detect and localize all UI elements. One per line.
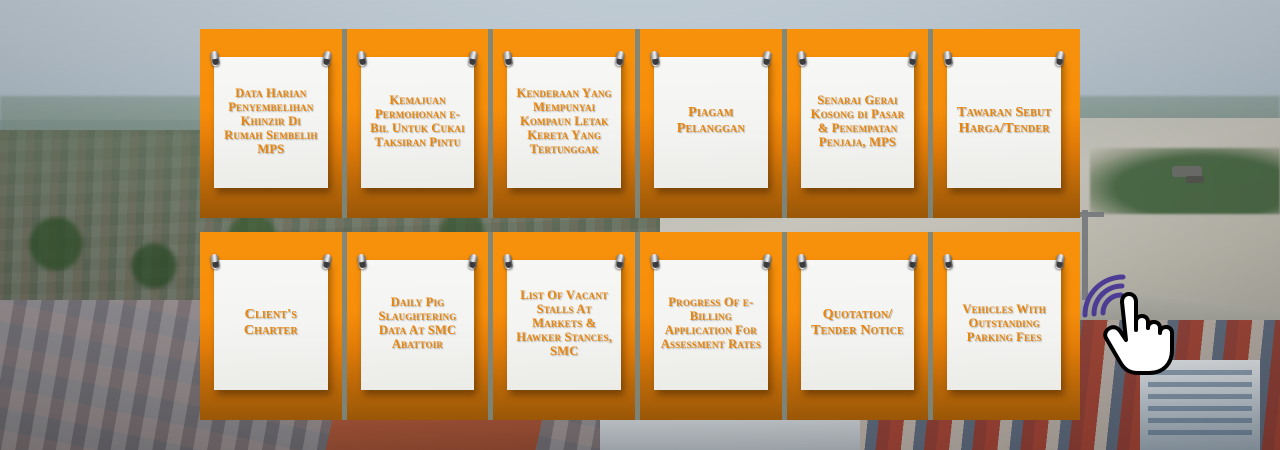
paper-clip-icon	[943, 253, 953, 269]
card-title: Progress Of e-Billing Application For As…	[658, 295, 764, 351]
service-card-tawaran-sebut-harga-tender[interactable]: Tawaran Sebut Harga/Tender	[933, 29, 1080, 218]
card-title: Senarai Gerai Kosong di Pasar & Penempat…	[805, 93, 911, 149]
card-title: Piagam Pelanggan	[658, 105, 764, 136]
service-card-clients-charter[interactable]: Client's Charter	[200, 232, 347, 420]
card-title: Daily Pig Slaughtering Data At SMC Abatt…	[365, 295, 471, 351]
card-title: Tawaran Sebut Harga/Tender	[951, 105, 1057, 136]
service-card-kemajuan-permohonan-ebil[interactable]: Kemajuan Permohonan e-Bil Untuk Cukai Ta…	[347, 29, 494, 218]
card-title: Quotation/ Tender Notice	[805, 307, 911, 338]
card-sheet[interactable]: List Of Vacant Stalls At Markets & Hawke…	[507, 260, 621, 390]
card-sheet[interactable]: Kenderaan Yang Mempunyai Kompaun Letak K…	[507, 57, 621, 188]
paper-clip-icon	[615, 50, 625, 66]
service-card-kenderaan-kompaun-letak-kereta[interactable]: Kenderaan Yang Mempunyai Kompaun Letak K…	[493, 29, 640, 218]
paper-clip-icon	[908, 253, 918, 269]
paper-clip-icon	[503, 50, 513, 66]
paper-clip-icon	[615, 253, 625, 269]
paper-clip-icon	[650, 50, 660, 66]
card-title: Client's Charter	[218, 307, 324, 338]
service-card-list-of-vacant-stalls[interactable]: List Of Vacant Stalls At Markets & Hawke…	[493, 232, 640, 420]
service-card-progress-of-ebilling[interactable]: Progress Of e-Billing Application For As…	[640, 232, 787, 420]
paper-clip-icon	[210, 50, 220, 66]
paper-clip-icon	[503, 253, 513, 269]
paper-clip-icon	[1055, 253, 1065, 269]
paper-clip-icon	[797, 50, 807, 66]
card-sheet[interactable]: Tawaran Sebut Harga/Tender	[947, 57, 1061, 188]
card-sheet[interactable]: Progress Of e-Billing Application For As…	[654, 260, 768, 390]
card-sheet[interactable]: Piagam Pelanggan	[654, 57, 768, 188]
service-card-quotation-tender-notice[interactable]: Quotation/ Tender Notice	[787, 232, 934, 420]
paper-clip-icon	[762, 253, 772, 269]
paper-clip-icon	[322, 253, 332, 269]
paper-clip-icon	[357, 50, 367, 66]
card-title: Kemajuan Permohonan e-Bil Untuk Cukai Ta…	[365, 93, 471, 149]
page-root: Data Harian Penyembelihan Khinzir Di Rum…	[0, 0, 1280, 450]
card-sheet[interactable]: Daily Pig Slaughtering Data At SMC Abatt…	[361, 260, 475, 390]
paper-clip-icon	[322, 50, 332, 66]
paper-clip-icon	[797, 253, 807, 269]
card-sheet[interactable]: Senarai Gerai Kosong di Pasar & Penempat…	[801, 57, 915, 188]
paper-clip-icon	[210, 253, 220, 269]
paper-clip-icon	[357, 253, 367, 269]
paper-clip-icon	[762, 50, 772, 66]
card-sheet[interactable]: Vehicles With Outstanding Parking Fees	[947, 260, 1061, 390]
card-sheet[interactable]: Data Harian Penyembelihan Khinzir Di Rum…	[214, 57, 328, 188]
card-sheet[interactable]: Quotation/ Tender Notice	[801, 260, 915, 390]
service-card-vehicles-outstanding-parking[interactable]: Vehicles With Outstanding Parking Fees	[933, 232, 1080, 420]
service-card-daily-pig-slaughtering-data[interactable]: Daily Pig Slaughtering Data At SMC Abatt…	[347, 232, 494, 420]
service-card-piagam-pelanggan[interactable]: Piagam Pelanggan	[640, 29, 787, 218]
card-sheet[interactable]: Kemajuan Permohonan e-Bil Untuk Cukai Ta…	[361, 57, 475, 188]
service-card-data-harian-penyembelihan[interactable]: Data Harian Penyembelihan Khinzir Di Rum…	[200, 29, 347, 218]
paper-clip-icon	[943, 50, 953, 66]
card-title: Data Harian Penyembelihan Khinzir Di Rum…	[218, 86, 324, 156]
card-title: Vehicles With Outstanding Parking Fees	[951, 302, 1057, 344]
service-card-senarai-gerai-kosong[interactable]: Senarai Gerai Kosong di Pasar & Penempat…	[787, 29, 934, 218]
service-card-grid: Data Harian Penyembelihan Khinzir Di Rum…	[200, 29, 1080, 420]
card-title: Kenderaan Yang Mempunyai Kompaun Letak K…	[511, 86, 617, 156]
paper-clip-icon	[1055, 50, 1065, 66]
paper-clip-icon	[650, 253, 660, 269]
paper-clip-icon	[908, 50, 918, 66]
paper-clip-icon	[468, 253, 478, 269]
card-title: List Of Vacant Stalls At Markets & Hawke…	[511, 288, 617, 358]
paper-clip-icon	[468, 50, 478, 66]
card-sheet[interactable]: Client's Charter	[214, 260, 328, 390]
